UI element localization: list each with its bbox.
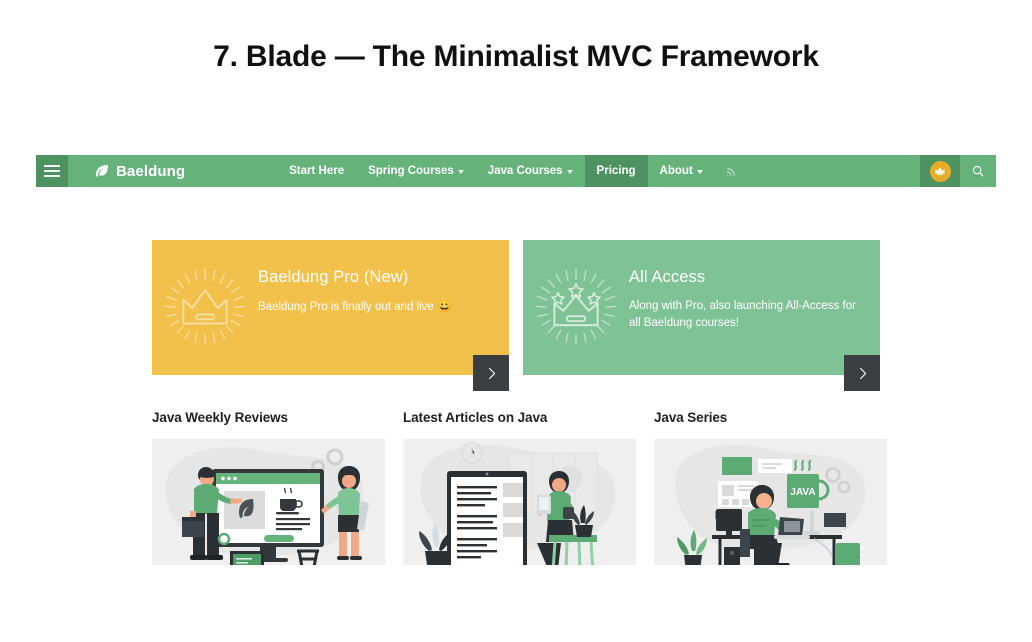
crown-rays-glyph xyxy=(160,264,250,354)
nav-link-start-here[interactable]: Start Here xyxy=(277,155,356,187)
brand-name: Baeldung xyxy=(116,163,185,180)
column-heading: Latest Articles on Java xyxy=(403,410,636,425)
nav-link-label: Pricing xyxy=(597,165,636,177)
promo-card-all-access[interactable]: All Access Along with Pro, also launchin… xyxy=(523,240,880,375)
column-java-series: Java Series xyxy=(654,410,887,565)
promo-title: Baeldung Pro (New) xyxy=(258,268,452,286)
chevron-right-icon xyxy=(855,366,870,381)
promo-card-baeldung-pro[interactable]: Baeldung Pro (New) Baeldung Pro is final… xyxy=(152,240,509,375)
column-latest-articles-on-java: Latest Articles on Java xyxy=(403,410,636,565)
rss-glyph xyxy=(725,165,738,178)
screenshot-root: 7. Blade — The Minimalist MVC Framework … xyxy=(0,0,1032,642)
promo-subtitle-text: Baeldung Pro is finally out and live xyxy=(258,301,434,313)
chevron-down-icon xyxy=(567,170,573,174)
chevron-down-icon xyxy=(458,170,464,174)
nav-link-label: Spring Courses xyxy=(368,165,454,177)
chevron-down-icon xyxy=(697,170,703,174)
nav-link-spring-courses[interactable]: Spring Courses xyxy=(356,155,476,187)
column-java-weekly-reviews: Java Weekly Reviews xyxy=(152,410,385,565)
nav-link-label: Java Courses xyxy=(488,165,563,177)
search-icon[interactable] xyxy=(960,155,996,187)
site-navbar: Baeldung Start Here Spring Courses Java … xyxy=(36,155,996,187)
promo-subtitle: Baeldung Pro is finally out and live 😀 xyxy=(258,298,452,316)
column-heading: Java Weekly Reviews xyxy=(152,410,385,425)
smiley-emoji: 😀 xyxy=(437,299,452,313)
nav-link-label: Start Here xyxy=(289,165,344,177)
website-viewport: Baeldung Start Here Spring Courses Java … xyxy=(36,155,996,565)
crown-stars-rays-icon xyxy=(523,264,629,354)
chevron-right-icon xyxy=(484,366,499,381)
hamburger-menu-icon[interactable] xyxy=(36,155,68,187)
promo-text: All Access Along with Pro, also launchin… xyxy=(629,266,858,331)
pro-badge-button[interactable] xyxy=(920,155,960,187)
thumbnail-java-series[interactable]: JAVA xyxy=(654,439,887,565)
column-heading: Java Series xyxy=(654,410,887,425)
leaf-icon xyxy=(94,163,110,179)
illustration-reading-tablet xyxy=(403,439,636,565)
crown-rays-icon xyxy=(152,264,258,354)
rss-icon[interactable] xyxy=(715,155,748,187)
nav-link-java-courses[interactable]: Java Courses xyxy=(476,155,585,187)
hamburger-bars xyxy=(44,162,60,180)
nav-link-about[interactable]: About xyxy=(648,155,715,187)
nav-link-label: About xyxy=(660,165,693,177)
promo-cards: Baeldung Pro (New) Baeldung Pro is final… xyxy=(152,187,880,375)
content-columns: Java Weekly Reviews xyxy=(152,375,880,565)
nav-links: Start Here Spring Courses Java Courses P… xyxy=(277,155,748,187)
svg-text:JAVA: JAVA xyxy=(790,487,815,498)
thumbnail-latest-articles-on-java[interactable] xyxy=(403,439,636,565)
brand-logo[interactable]: Baeldung xyxy=(68,155,185,187)
promo-text: Baeldung Pro (New) Baeldung Pro is final… xyxy=(258,266,452,316)
site-body: Baeldung Pro (New) Baeldung Pro is final… xyxy=(36,187,996,565)
nav-spacer xyxy=(748,155,920,187)
crown-glyph xyxy=(934,165,946,177)
illustration-developer-desk: JAVA xyxy=(654,439,887,565)
promo-subtitle: Along with Pro, also launching All-Acces… xyxy=(629,298,858,331)
illustration-monitor-team xyxy=(152,439,385,565)
promo-next-button[interactable] xyxy=(844,355,880,391)
promo-next-button[interactable] xyxy=(473,355,509,391)
crown-stars-rays-glyph xyxy=(531,264,621,354)
promo-title: All Access xyxy=(629,268,858,286)
nav-link-pricing[interactable]: Pricing xyxy=(585,155,648,187)
page-title: 7. Blade — The Minimalist MVC Framework xyxy=(0,40,1032,74)
crown-badge-icon xyxy=(930,161,951,182)
thumbnail-java-weekly-reviews[interactable] xyxy=(152,439,385,565)
search-glyph xyxy=(971,164,985,178)
